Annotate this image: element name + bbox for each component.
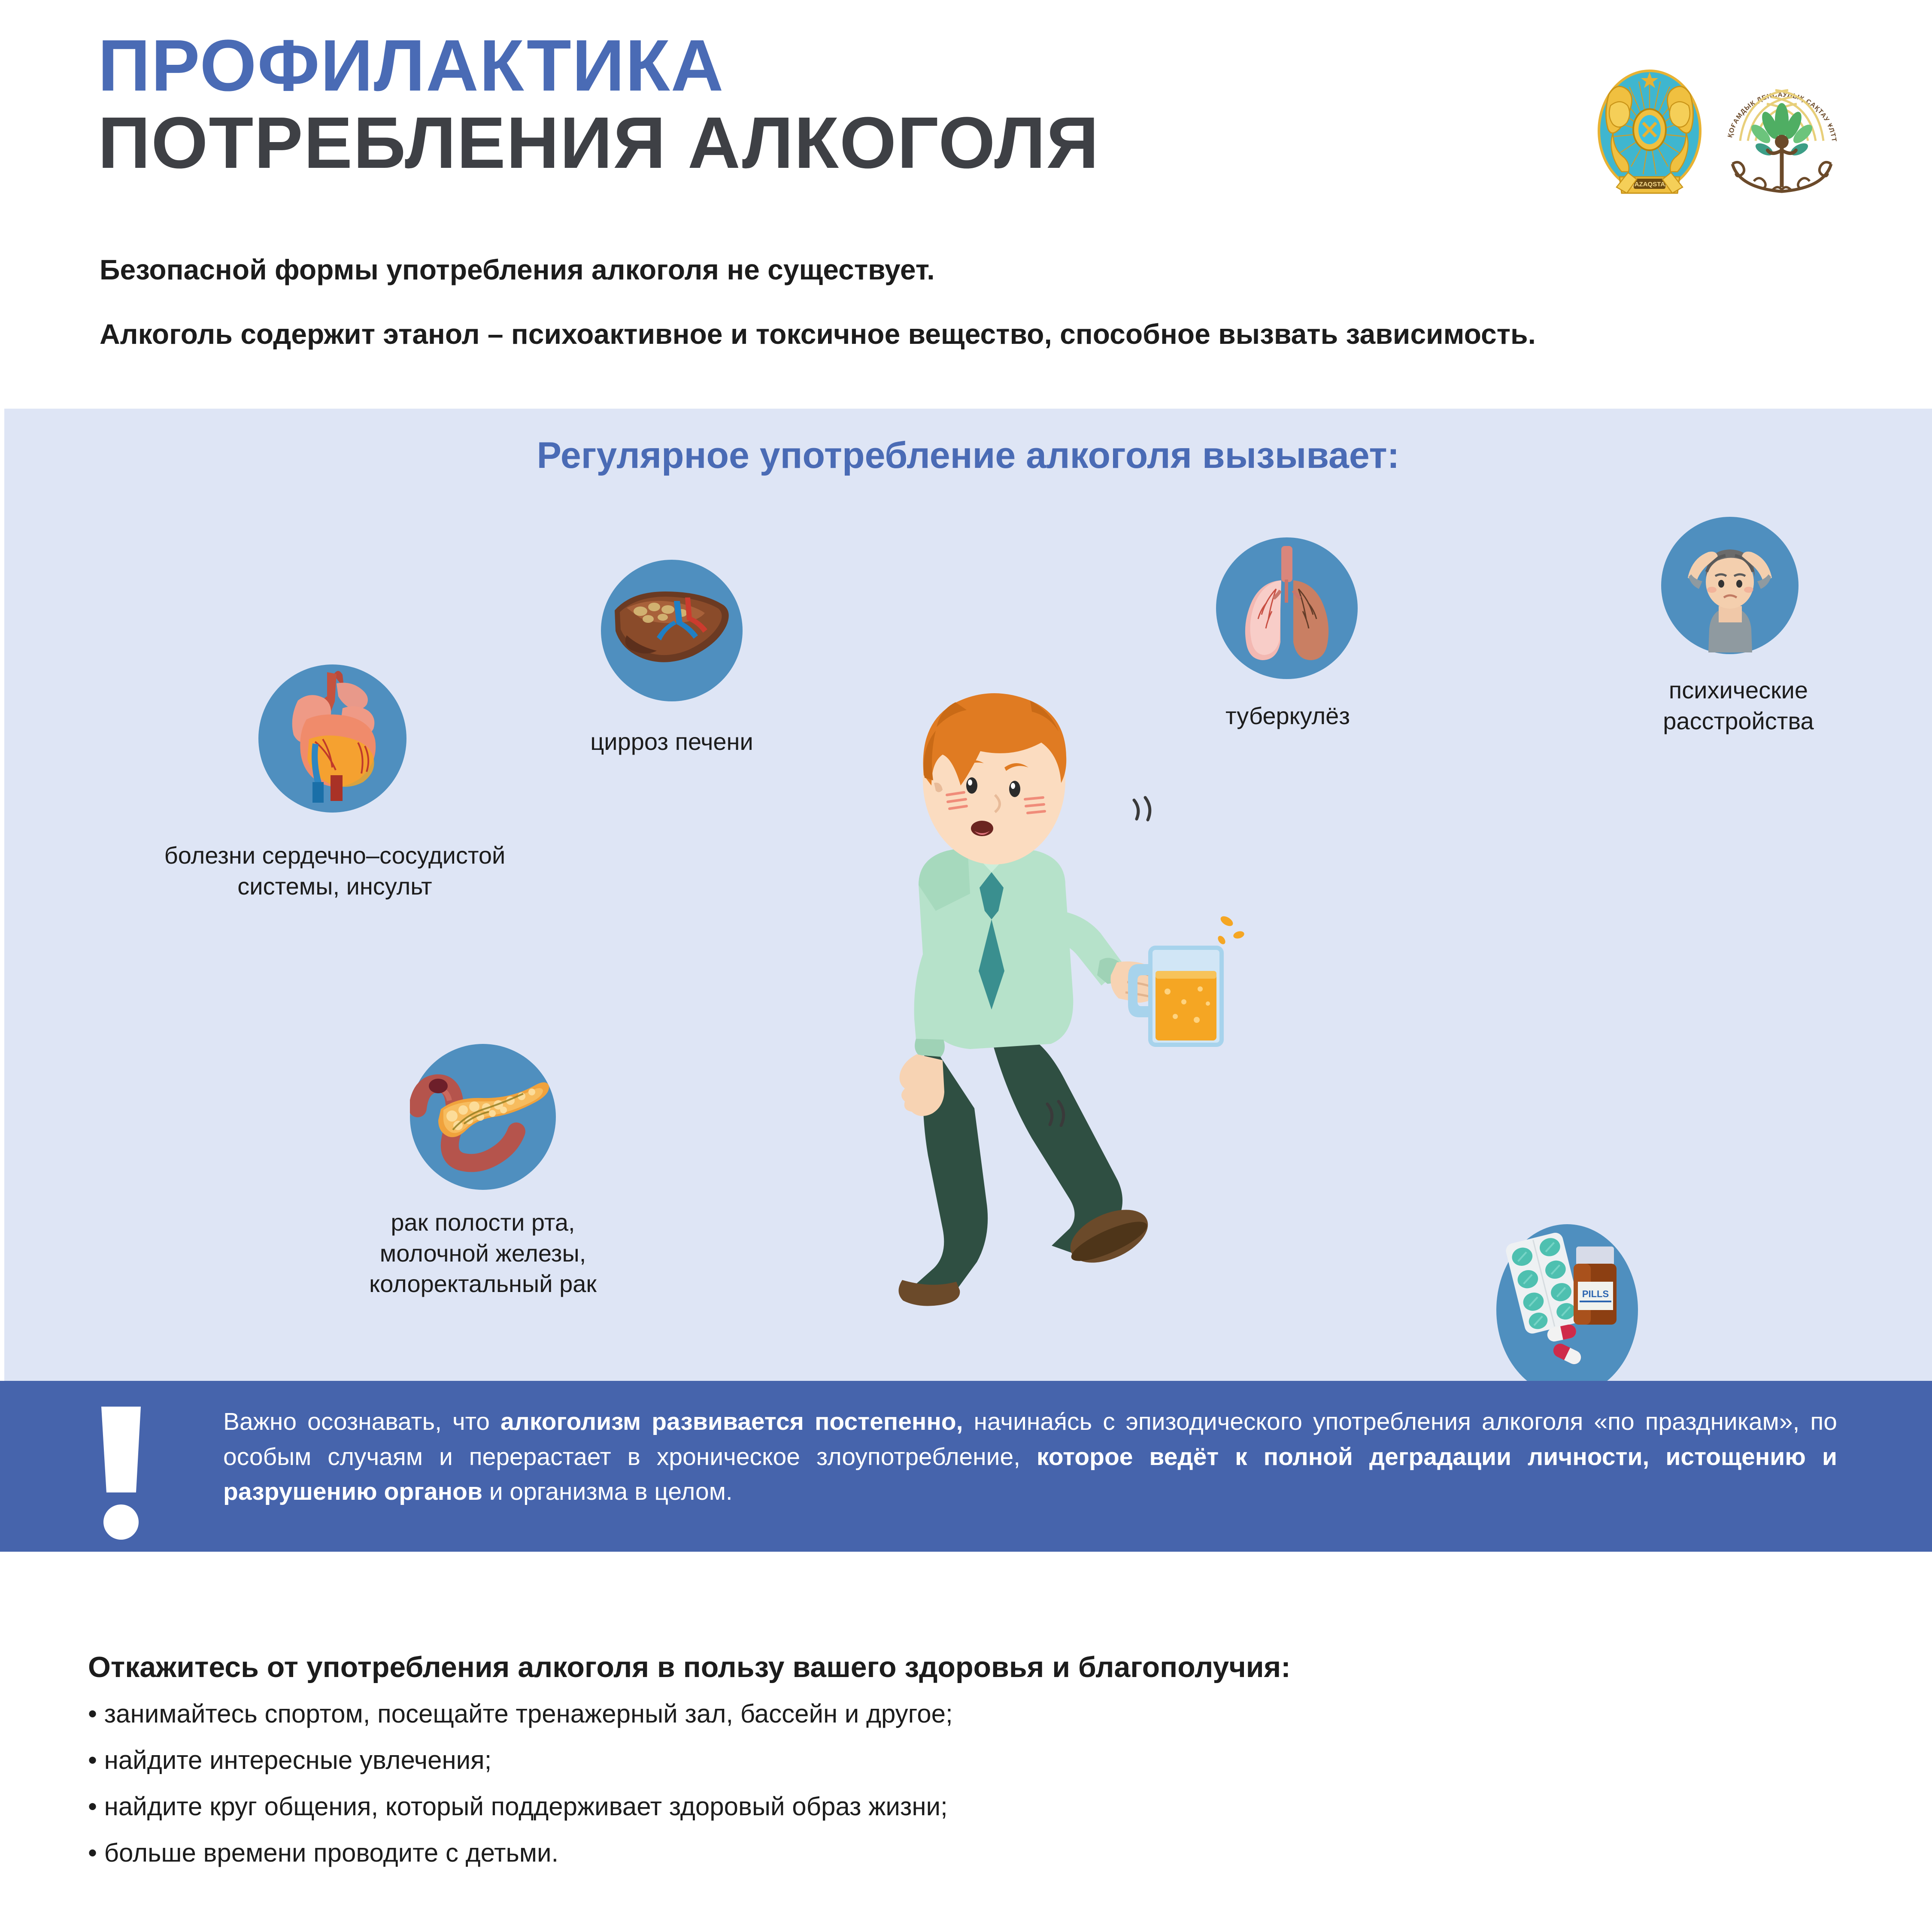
kazakhstan-coat-of-arms-icon: QAZAQSTAN bbox=[1596, 64, 1703, 204]
warning-segment: Важно осознавать, что bbox=[223, 1408, 500, 1435]
logo-group: QAZAQSTAN ҚОҒАМДЫҚ ДЕНСАУЛЫҚ САҚТАУ ҰЛТТ… bbox=[1596, 64, 1844, 204]
footer: Откажитесь от употребления алкоголя в по… bbox=[0, 1552, 1932, 1932]
heart-label: болезни сердечно–сосудистой системы, инс… bbox=[82, 840, 588, 901]
exclamation-bar bbox=[101, 1407, 141, 1492]
list-item: • занимайтесь спортом, посещайте тренаже… bbox=[88, 1701, 953, 1727]
subtitle-secondary: Алкоголь содержит этанол – психоактивное… bbox=[100, 318, 1536, 350]
drunk-man-with-beer-mug bbox=[790, 670, 1253, 1362]
title-line-1: ПРОФИЛАКТИКА bbox=[98, 29, 1300, 102]
header: ПРОФИЛАКТИКА ПОТРЕБЛЕНИЯ АЛКОГОЛЯ Безопа… bbox=[0, 0, 1932, 409]
mental-label: психические расстройства bbox=[1588, 675, 1889, 736]
panel-heading: Регулярное употребление алкоголя вызывае… bbox=[4, 434, 1932, 477]
pills-icon: PILLS bbox=[1496, 1224, 1638, 1396]
warning-text: Важно осознавать, что алкоголизм развива… bbox=[223, 1404, 1837, 1510]
warning-emphasis: алкоголизм развивается постепенно, bbox=[500, 1408, 963, 1435]
title-line-2: ПОТРЕБЛЕНИЯ АЛКОГОЛЯ bbox=[98, 102, 1300, 184]
footer-recommendation-list: • занимайтесь спортом, посещайте тренаже… bbox=[88, 1701, 953, 1887]
heart-icon bbox=[258, 664, 406, 813]
warning-segment: и организма в целом. bbox=[482, 1478, 733, 1505]
subtitle-primary: Безопасной формы употребления алкоголя н… bbox=[100, 253, 935, 286]
main-panel: Регулярное употребление алкоголя вызывае… bbox=[4, 409, 1932, 1381]
pancreas-label: рак полости рта, молочной железы, колоре… bbox=[262, 1207, 704, 1299]
exclamation-dot bbox=[103, 1504, 139, 1540]
warning-band: Важно осознавать, что алкоголизм развива… bbox=[0, 1381, 1932, 1552]
list-item: • найдите интересные увлечения; bbox=[88, 1747, 953, 1773]
pancreas-icon bbox=[410, 1044, 556, 1190]
exclamation-mark-icon bbox=[95, 1407, 147, 1535]
liver-icon bbox=[601, 560, 743, 701]
footer-title: Откажитесь от употребления алкоголя в по… bbox=[88, 1650, 1291, 1684]
distressed-person-icon bbox=[1661, 517, 1799, 654]
page-title: ПРОФИЛАКТИКА ПОТРЕБЛЕНИЯ АЛКОГОЛЯ bbox=[98, 29, 1300, 184]
list-item: • больше времени проводите с детьми. bbox=[88, 1840, 953, 1866]
lungs-icon bbox=[1216, 537, 1358, 679]
list-item: • найдите круг общения, который поддержи… bbox=[88, 1794, 953, 1820]
public-health-center-icon: ҚОҒАМДЫҚ ДЕНСАУЛЫҚ САҚТАУ ҰЛТТЫҚ ОРТАЛЫҒ… bbox=[1720, 64, 1844, 204]
pills-bottle-label: PILLS bbox=[1582, 1289, 1609, 1299]
